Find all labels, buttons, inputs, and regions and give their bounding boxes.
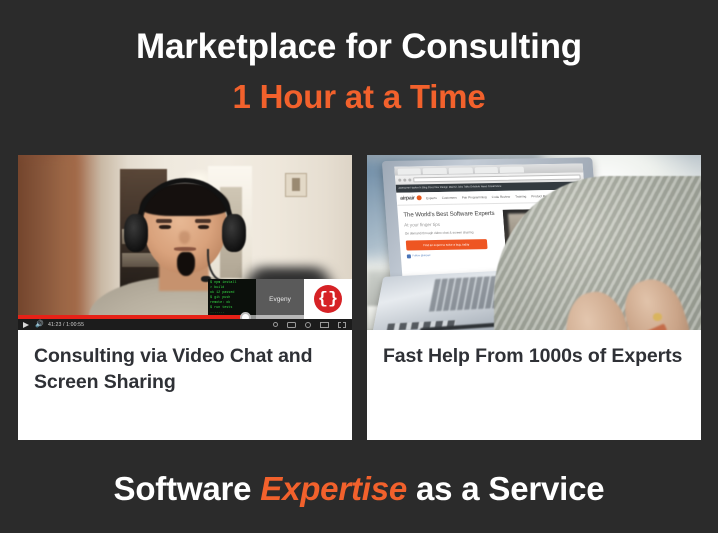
card-caption-consulting: Consulting via Video Chat and Screen Sha… bbox=[18, 330, 352, 440]
hero-heading: The World's Best Software Experts bbox=[403, 209, 498, 218]
play-icon[interactable] bbox=[23, 322, 29, 328]
video-controls-right[interactable] bbox=[273, 322, 352, 328]
footer-text-emphasis: Expertise bbox=[260, 470, 407, 507]
call-thumbnail-strip[interactable]: $ npm install > build ok 12 passed $ git… bbox=[208, 279, 352, 319]
nav-link-experts[interactable]: Experts bbox=[426, 195, 437, 199]
browser-tab[interactable] bbox=[423, 167, 447, 173]
finger-ring bbox=[653, 313, 663, 320]
person-hand-right bbox=[616, 272, 694, 330]
back-icon[interactable] bbox=[398, 178, 401, 181]
hero-social-link[interactable]: Follow @airpair bbox=[406, 252, 501, 258]
thumbnail-brand-logo[interactable]: {} bbox=[304, 279, 352, 319]
headset-earcup-left bbox=[124, 214, 148, 252]
site-logo-text: airpair bbox=[400, 195, 415, 201]
captions-icon[interactable] bbox=[287, 322, 296, 328]
headset-headband-icon bbox=[137, 178, 233, 223]
autoplay-icon[interactable] bbox=[273, 322, 278, 327]
person-goatee bbox=[177, 252, 195, 276]
volume-icon[interactable]: 🔊 bbox=[35, 321, 42, 328]
page-title: Marketplace for Consulting bbox=[0, 26, 718, 67]
slide-footer-tagline: Software Expertise as a Service bbox=[0, 470, 718, 508]
person-eye-right bbox=[198, 225, 209, 229]
settings-gear-icon[interactable] bbox=[305, 322, 311, 328]
twitter-icon bbox=[406, 253, 410, 257]
browser-tab[interactable] bbox=[500, 166, 524, 172]
wall-picture-frame bbox=[285, 173, 307, 198]
card-caption-fast-help: Fast Help From 1000s of Experts bbox=[367, 330, 701, 440]
footer-text-after: as a Service bbox=[407, 470, 604, 507]
nav-link-pair-programming[interactable]: Pair Programming bbox=[462, 194, 487, 198]
browser-tab[interactable] bbox=[397, 168, 421, 174]
site-logo[interactable]: airpair bbox=[400, 195, 421, 201]
forward-icon[interactable] bbox=[403, 178, 406, 181]
headset-earcup-right bbox=[222, 214, 246, 252]
theater-mode-icon[interactable] bbox=[320, 322, 329, 328]
card-fast-help-experts[interactable]: Awesome Hacker N Blog Docs Dev Design Ma… bbox=[367, 155, 701, 440]
person-eye-left bbox=[159, 225, 170, 229]
footer-text-before: Software bbox=[114, 470, 261, 507]
nav-link-code-review[interactable]: Code Review bbox=[492, 194, 511, 198]
laptop-photo[interactable]: Awesome Hacker N Blog Docs Dev Design Ma… bbox=[367, 155, 701, 330]
thumbnail-participant-label: Evgeny bbox=[269, 296, 291, 303]
hero-paragraph: On demand through video chat & screen sh… bbox=[405, 229, 500, 235]
presentation-slide: Marketplace for Consulting 1 Hour at a T… bbox=[0, 0, 718, 533]
browser-tab[interactable] bbox=[448, 167, 472, 173]
browser-tab[interactable] bbox=[474, 166, 498, 172]
hero-social-label: Follow @airpair bbox=[412, 254, 430, 257]
card-consulting-video-chat[interactable]: $ npm install > build ok 12 passed $ git… bbox=[18, 155, 352, 440]
hero-subheading: At your finger tips bbox=[404, 220, 499, 227]
site-hero-copy: The World's Best Software Experts At you… bbox=[403, 209, 501, 262]
video-timestamp: 41:23 / 1:00:55 bbox=[48, 322, 84, 328]
nav-link-customers[interactable]: Customers bbox=[442, 195, 457, 199]
url-input[interactable] bbox=[413, 174, 581, 182]
site-logo-mark-icon bbox=[416, 195, 421, 200]
video-control-bar[interactable]: 🔊 41:23 / 1:00:55 bbox=[18, 319, 352, 330]
video-controls-left[interactable]: 🔊 41:23 / 1:00:55 bbox=[18, 321, 84, 328]
person-mouth bbox=[174, 247, 196, 250]
thumbnail-participant[interactable]: Evgeny bbox=[256, 279, 304, 319]
laptop-scene: Awesome Hacker N Blog Docs Dev Design Ma… bbox=[367, 155, 701, 330]
nav-link-training[interactable]: Training bbox=[515, 194, 526, 198]
braces-logo-icon: {} bbox=[314, 285, 342, 313]
page-subtitle: 1 Hour at a Time bbox=[0, 78, 718, 117]
foreground-post bbox=[18, 155, 85, 330]
fullscreen-icon[interactable] bbox=[338, 322, 346, 328]
reload-icon[interactable] bbox=[408, 178, 411, 181]
video-call-screenshot[interactable]: $ npm install > build ok 12 passed $ git… bbox=[18, 155, 352, 330]
person-nose bbox=[179, 231, 190, 245]
site-nav-links[interactable]: Experts Customers Pair Programming Code … bbox=[426, 193, 556, 199]
hero-cta-button[interactable]: Find an expert to solve a bug, today bbox=[405, 238, 487, 249]
